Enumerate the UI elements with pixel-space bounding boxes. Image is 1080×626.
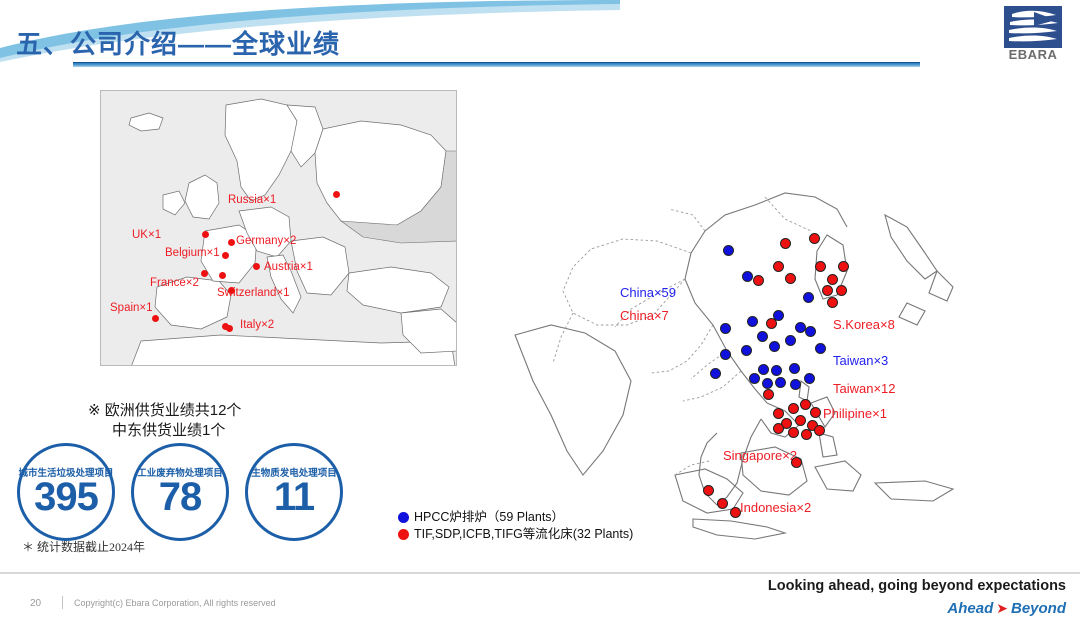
europe-plant-dot <box>152 315 159 322</box>
stat-circle-biomass-power: 生物质发电处理项目 11 <box>245 443 343 541</box>
legend-label: TIF,SDP,ICFB,TIFG等流化床(32 Plants) <box>414 526 633 543</box>
asia-plant-dot-hpcc <box>757 331 768 342</box>
stat-circle-industrial-waste: 工业废弃物处理项目 78 <box>131 443 229 541</box>
asia-plant-dot-fluidized <box>788 403 799 414</box>
europe-plant-dot <box>222 252 229 259</box>
page-title: 五、公司介绍——全球业绩 <box>16 24 340 61</box>
europe-plant-dot <box>201 270 208 277</box>
brand-arrow-icon: ➤ <box>996 600 1008 617</box>
asia-plant-dot-hpcc <box>803 292 814 303</box>
legend-item-fluidized-bed: TIF,SDP,ICFB,TIFG等流化床(32 Plants) <box>398 526 633 543</box>
company-tagline: Looking ahead, going beyond expectations <box>768 578 1066 594</box>
asia-plant-dot-fluidized <box>814 425 825 436</box>
asia-plant-dot-fluidized <box>822 285 833 296</box>
asia-plant-dot-fluidized <box>773 423 784 434</box>
europe-supply-note-line1: ※ 欧洲供货业绩共12个 <box>88 402 241 419</box>
asia-label-taiwan: Taiwan×3 <box>833 353 888 368</box>
asia-label-s-korea: S.Korea×8 <box>833 317 895 332</box>
page-number: 20 <box>30 598 41 609</box>
brand-beyond-text: Beyond <box>1011 600 1066 617</box>
stat-value: 78 <box>159 477 202 517</box>
asia-plant-dot-fluidized <box>795 415 806 426</box>
asia-plant-dot-fluidized <box>703 485 714 496</box>
asia-plant-dot-fluidized <box>763 389 774 400</box>
asia-plant-dot-hpcc <box>749 373 760 384</box>
asia-plant-dot-hpcc <box>815 343 826 354</box>
asia-plant-dot-fluidized <box>809 233 820 244</box>
asia-plant-dot-fluidized <box>717 498 728 509</box>
asia-plant-dot-fluidized <box>788 427 799 438</box>
asia-plant-dot-hpcc <box>741 345 752 356</box>
europe-plant-dot <box>226 325 233 332</box>
asia-label-china: China×59 <box>620 285 676 300</box>
stat-value: 11 <box>274 477 314 517</box>
asia-plant-dot-hpcc <box>742 271 753 282</box>
asia-plant-dot-fluidized <box>730 507 741 518</box>
asia-plant-dot-fluidized <box>766 318 777 329</box>
legend-label: HPCC炉排炉（59 Plants） <box>414 509 564 526</box>
europe-label-france: France×2 <box>150 277 199 289</box>
asia-plant-dot-hpcc <box>804 373 815 384</box>
asia-plant-dot-hpcc <box>758 364 769 375</box>
slide-canvas: 五、公司介绍——全球业绩 EBARA <box>0 0 1080 626</box>
europe-label-russia: Russia×1 <box>228 194 276 206</box>
europe-label-austria: Austria×1 <box>264 261 313 273</box>
europe-supply-note-line2: 中东供货业绩1个 <box>88 421 241 441</box>
asia-plant-dot-hpcc <box>771 365 782 376</box>
footer-separator <box>62 596 63 609</box>
copyright-text: Copyright(c) Ebara Corporation, All righ… <box>74 598 276 608</box>
brand-ahead-text: Ahead <box>947 600 993 617</box>
asia-label-china: China×7 <box>620 308 669 323</box>
asia-plant-dot-hpcc <box>775 377 786 388</box>
asia-plant-dot-fluidized <box>780 238 791 249</box>
europe-plant-dot <box>228 239 235 246</box>
asia-plant-dot-hpcc <box>762 378 773 389</box>
statistics-footnote: ＊ 统计数据截止2024年 <box>22 538 145 555</box>
asia-plant-dot-fluidized <box>827 297 838 308</box>
europe-label-uk: UK×1 <box>132 229 161 241</box>
asia-plant-dot-fluidized <box>827 274 838 285</box>
europe-plant-dot <box>228 287 235 294</box>
asia-plant-dot-fluidized <box>753 275 764 286</box>
stat-circle-municipal-waste: 城市生活垃圾处理项目 395 <box>17 443 115 541</box>
asia-plant-dot-hpcc <box>720 323 731 334</box>
europe-label-belgium: Belgium×1 <box>165 247 220 259</box>
asia-plant-dot-fluidized <box>838 261 849 272</box>
asia-plant-dot-fluidized <box>800 399 811 410</box>
asia-plant-dot-hpcc <box>785 335 796 346</box>
europe-label-italy: Italy×2 <box>240 319 274 331</box>
footer-divider <box>0 572 1080 574</box>
europe-plant-dot <box>202 231 209 238</box>
asia-label-taiwan: Taiwan×12 <box>833 381 896 396</box>
ahead-beyond-brandmark: Ahead ➤ Beyond <box>947 600 1066 617</box>
map-legend: HPCC炉排炉（59 Plants） TIF,SDP,ICFB,TIFG等流化床… <box>398 509 633 543</box>
europe-plant-dot <box>253 263 260 270</box>
asia-plant-dot-hpcc <box>789 363 800 374</box>
ebara-logo-mark-icon <box>1004 6 1062 48</box>
legend-bullet-blue-icon <box>398 512 409 523</box>
legend-item-hpcc: HPCC炉排炉（59 Plants） <box>398 509 633 526</box>
europe-map <box>100 90 457 366</box>
europe-label-spain: Spain×1 <box>110 302 153 314</box>
asia-plant-dot-fluidized <box>773 261 784 272</box>
asia-plant-dot-fluidized <box>791 457 802 468</box>
asia-plant-dot-fluidized <box>773 408 784 419</box>
asia-plant-dot-fluidized <box>801 429 812 440</box>
asia-label-singapore: Singapore×2 <box>723 448 797 463</box>
asia-plant-dot-fluidized <box>810 407 821 418</box>
asia-plant-dot-hpcc <box>710 368 721 379</box>
europe-plant-dot <box>333 191 340 198</box>
europe-plant-dot <box>219 272 226 279</box>
asia-plant-dot-fluidized <box>785 273 796 284</box>
asia-label-indonesia: Indonesia×2 <box>740 500 811 515</box>
europe-label-germany: Germany×2 <box>236 235 296 247</box>
asia-plant-dot-hpcc <box>790 379 801 390</box>
asia-label-philipine: Philipine×1 <box>823 406 887 421</box>
asia-plant-dot-hpcc <box>769 341 780 352</box>
title-underline <box>73 62 920 67</box>
asia-plant-dot-fluidized <box>836 285 847 296</box>
asia-plant-dot-hpcc <box>805 326 816 337</box>
asia-plant-dot-fluidized <box>815 261 826 272</box>
asia-plant-dot-hpcc <box>747 316 758 327</box>
ebara-logo-text: EBARA <box>1004 48 1062 62</box>
asia-plant-dot-hpcc <box>720 349 731 360</box>
legend-bullet-red-icon <box>398 529 409 540</box>
ebara-logo: EBARA <box>1004 6 1068 68</box>
stat-value: 395 <box>34 477 98 517</box>
asia-plant-dot-hpcc <box>723 245 734 256</box>
